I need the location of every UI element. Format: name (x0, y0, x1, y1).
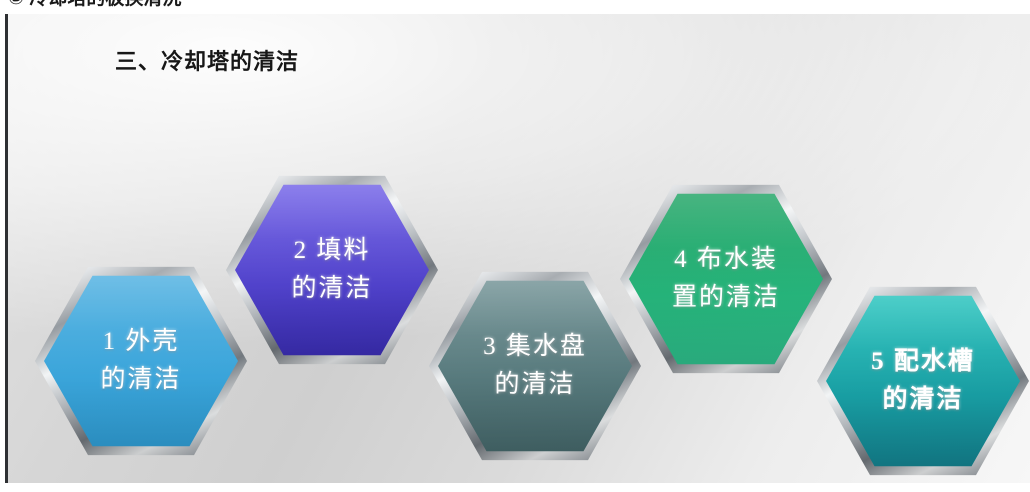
hexagon-node-1[interactable]: 1 外壳的清洁 (35, 265, 247, 457)
hexagon-node-5[interactable]: 5 配水槽的清洁 (817, 285, 1029, 477)
hexagon-node-3[interactable]: 3 集水盘的清洁 (429, 270, 641, 462)
cut-off-header-strip: ③ 冷却塔的板换清洗 (0, 0, 1030, 14)
hexagon-chain-diagram: 1 外壳的清洁2 填料的清洁3 集水盘的清洁4 布水装置的清洁5 配水槽的清洁 (5, 14, 1030, 483)
hexagon-node-4[interactable]: 4 布水装置的清洁 (620, 183, 832, 375)
hexagon-node-2[interactable]: 2 填料的清洁 (226, 174, 438, 366)
slide-canvas: 三、冷却塔的清洁 1 外壳的清洁2 填料的清洁3 集水盘的清洁4 布水装置的清洁… (5, 14, 1030, 483)
cut-off-header-text: ③ 冷却塔的板换清洗 (8, 0, 181, 10)
